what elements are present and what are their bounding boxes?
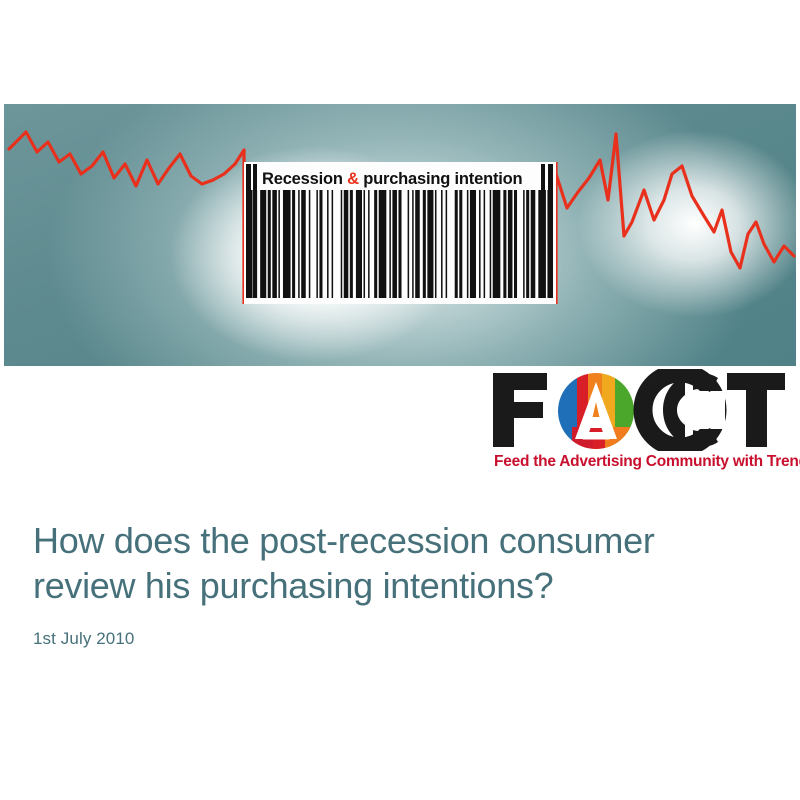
fact-logo-tagline: Feed the Advertising Community with Tren… [494, 453, 790, 471]
barcode-label: Recession & purchasing intention [262, 166, 538, 192]
barcode-label-prefix: Recession [262, 170, 347, 188]
fact-logo-mark [489, 369, 789, 451]
title-block: How does the post-recession consumer rev… [33, 518, 763, 649]
declining-trend-line-left [9, 132, 244, 186]
barcode-label-ampersand: & [347, 170, 359, 188]
page-title: How does the post-recession consumer rev… [33, 518, 763, 608]
fact-letter-c-icon [643, 373, 725, 447]
fact-letter-t-icon [727, 373, 785, 447]
barcode-label-suffix: purchasing intention [359, 170, 523, 188]
recession-banner: Recession & purchasing intention [4, 104, 796, 366]
fact-logo: Feed the Advertising Community with Tren… [489, 369, 789, 481]
declining-trend-line-right [556, 134, 794, 268]
page-date: 1st July 2010 [33, 608, 763, 649]
fact-letter-a-rosette-icon [558, 373, 635, 451]
barcode-graphic: Recession & purchasing intention [244, 162, 556, 304]
fact-letter-f-icon [493, 373, 547, 447]
